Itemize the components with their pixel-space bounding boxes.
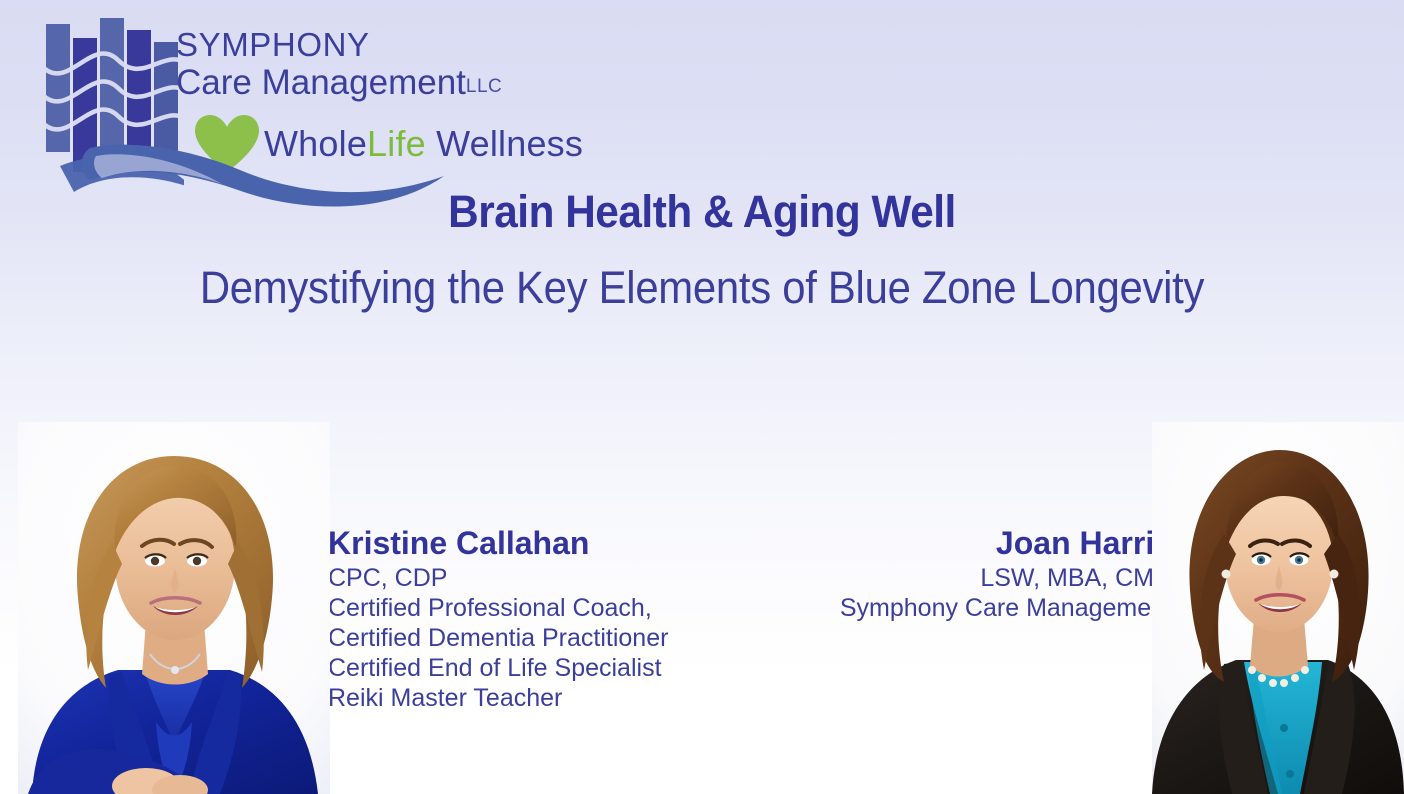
speaker-name: Joan Harris — [732, 524, 1172, 562]
logo-company-line2: Care ManagementLLC — [176, 63, 596, 107]
slide-subtitle: Demystifying the Key Elements of Blue Zo… — [49, 262, 1355, 314]
logo-company-line1: SYMPHONY — [176, 26, 596, 63]
logo-wordmark: SYMPHONY Care ManagementLLC — [176, 26, 596, 107]
speaker-credentials: LSW, MBA, CMC — [732, 563, 1172, 593]
speaker-credentials: CPC, CDP — [328, 563, 748, 593]
logo-entity-suffix: LLC — [466, 76, 502, 97]
speaker-joan-harris-info: Joan Harris LSW, MBA, CMC Symphony Care … — [732, 524, 1172, 623]
slide-title: Brain Health & Aging Well — [42, 186, 1362, 238]
speaker-kristine-callahan-info: Kristine Callahan CPC, CDP Certified Pro… — [328, 524, 748, 713]
speaker-detail-line: Certified Dementia Practitioner — [328, 623, 748, 653]
speaker-detail-line: Symphony Care Management — [732, 593, 1172, 623]
presentation-slide: SYMPHONY Care ManagementLLC WholeLife We… — [0, 0, 1404, 794]
logo-company-line2-text: Care Management — [176, 63, 466, 102]
speaker-name: Kristine Callahan — [328, 524, 748, 562]
speaker-detail-line: Certified End of Life Specialist — [328, 653, 748, 683]
speaker-photo-kristine-callahan — [18, 422, 330, 794]
speaker-detail-line: Certified Professional Coach, — [328, 593, 748, 623]
company-logo: SYMPHONY Care ManagementLLC WholeLife We… — [44, 12, 604, 197]
speaker-photo-joan-harris — [1152, 422, 1404, 794]
speaker-detail-line: Reiki Master Teacher — [328, 683, 748, 713]
